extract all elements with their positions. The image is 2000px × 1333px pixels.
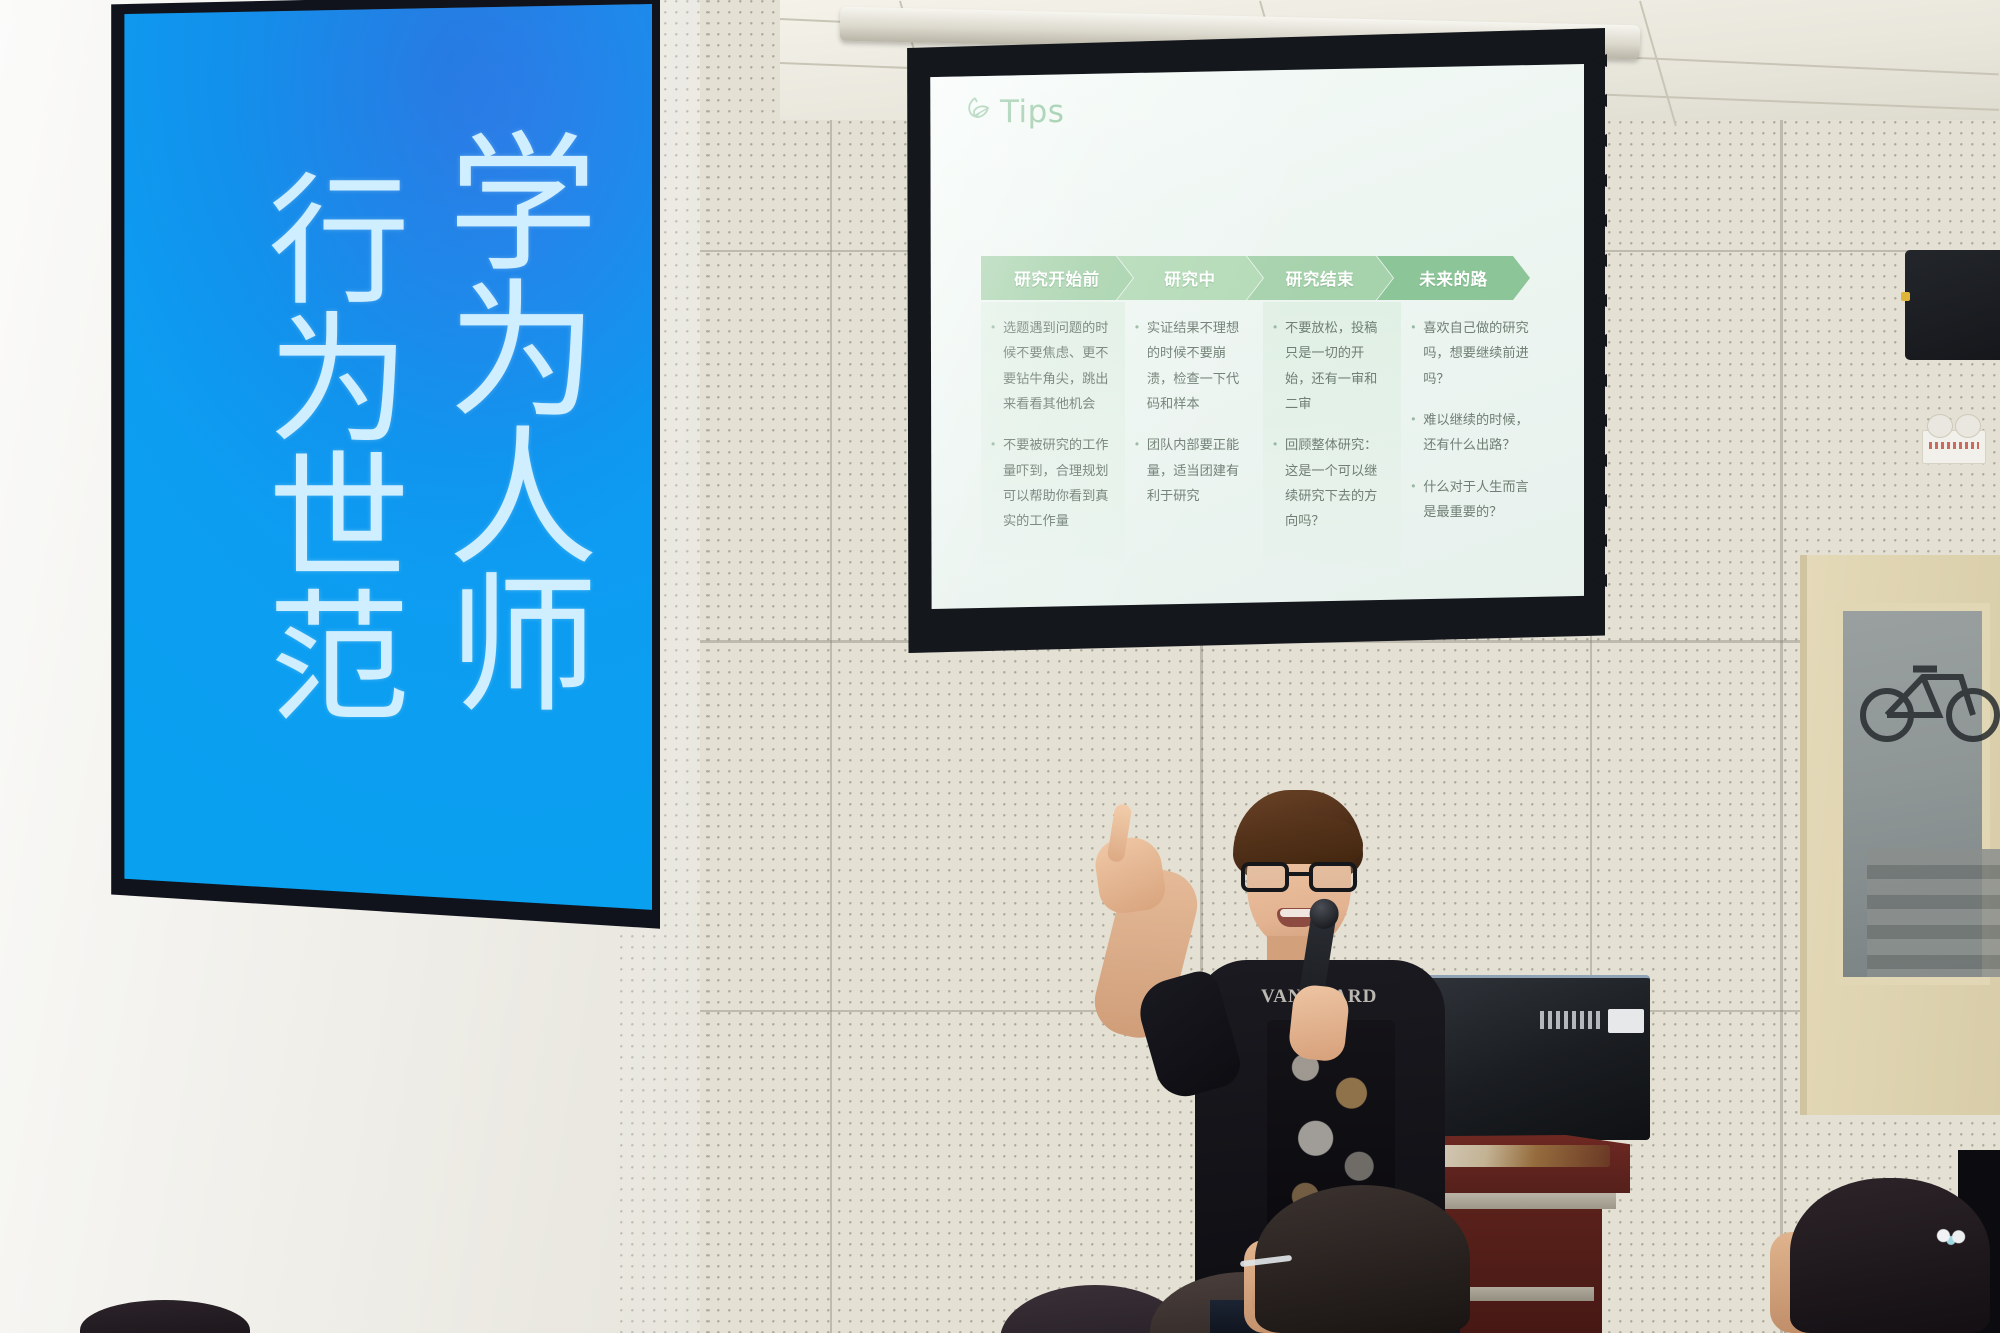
lens-right — [1309, 862, 1357, 892]
bullet-item: • 不要被研究的工作量吓到，合理规划可以帮助你看到真实的工作量 — [991, 433, 1113, 534]
bullet-item: • 什么对于人生而言是最重要的？ — [1411, 475, 1534, 526]
stage-chevron-2: 研究结束 — [1247, 256, 1393, 300]
bullet-text: 实证结果不理想的时候不要崩溃，检查一下代码和样本 — [1147, 316, 1251, 417]
screen-tension-tabs — [1591, 54, 1607, 614]
calligraphy-char: 为 — [448, 281, 598, 428]
bullet-item: • 选题遇到问题的时候不要焦虑、更不要钻牛角尖，跳出来看看其他机会 — [991, 316, 1113, 417]
stage-label: 研究中 — [1164, 266, 1215, 290]
emergency-light — [1922, 430, 1986, 464]
stage-label: 未来的路 — [1419, 266, 1487, 290]
stairs — [1867, 849, 2000, 977]
bullet-dot: • — [1135, 433, 1147, 509]
bullet-dot: • — [1135, 316, 1147, 417]
bicycle-icon — [1853, 641, 2000, 761]
bullet-item: • 喜欢自己做的研究吗，想要继续前进吗？ — [1411, 316, 1534, 392]
stage-chevron-0: 研究开始前 — [981, 256, 1133, 300]
hair-clip — [1932, 1226, 1970, 1250]
calligraphy-char: 世 — [268, 452, 410, 591]
calligraphy-char: 范 — [268, 591, 410, 730]
bullet-item: • 回顾整体研究：这是一个可以继续研究下去的方向吗？ — [1273, 433, 1389, 534]
bullet-item: • 难以继续的时候，还有什么出路？ — [1411, 408, 1534, 459]
bullet-item: • 实证结果不理想的时候不要崩溃，检查一下代码和样本 — [1135, 316, 1251, 417]
bullet-dot: • — [1411, 408, 1423, 459]
stage-chevron-3: 未来的路 — [1377, 256, 1530, 300]
bullet-dot: • — [991, 316, 1003, 417]
calligraphy-char: 学 — [448, 134, 598, 281]
stage-chevron-row: 研究开始前 研究中 研究结束 未来的路 — [981, 256, 1546, 300]
bullet-item: • 不要放松，投稿只是一切的开始，还有一审和二审 — [1273, 316, 1389, 417]
monitor-label-sticker — [1608, 1009, 1644, 1033]
wall-speaker — [1905, 250, 2000, 360]
door-frame — [1800, 555, 2000, 1115]
stage-column-0: • 选题遇到问题的时候不要焦虑、更不要钻牛角尖，跳出来看看其他机会 • 不要被研… — [981, 302, 1125, 571]
bullet-text: 什么对于人生而言是最重要的？ — [1423, 475, 1534, 526]
bullet-dot: • — [1411, 316, 1423, 392]
calligraphy-char: 师 — [448, 575, 598, 722]
slide-title: Tips — [1000, 94, 1064, 130]
calligraphy-char: 行 — [268, 174, 410, 313]
leaf-icon — [963, 95, 993, 129]
bullet-dot: • — [1273, 316, 1285, 417]
bullet-dot: • — [1273, 433, 1285, 534]
calligraphy-char: 为 — [268, 313, 410, 452]
stage-label: 研究开始前 — [1014, 266, 1100, 290]
slide-content: Tips 研究开始前 研究中 研究结束 未来的路 — [929, 64, 1584, 609]
stage-chevron-1: 研究中 — [1117, 256, 1263, 300]
projection-screen: Tips 研究开始前 研究中 研究结束 未来的路 — [905, 28, 1605, 653]
monitor-barcode-sticker — [1540, 1011, 1600, 1029]
stage-columns: • 选题遇到问题的时候不要焦虑、更不要钻牛角尖，跳出来看看其他机会 • 不要被研… — [981, 302, 1546, 571]
slide-header: Tips — [963, 94, 1558, 130]
hand-holding-microphone — [1287, 983, 1350, 1062]
projected-slide: Tips 研究开始前 研究中 研究结束 未来的路 — [929, 64, 1584, 609]
glasses-bridge — [1287, 872, 1311, 876]
bullet-dot: • — [991, 433, 1003, 534]
calligraphy-column-left: 行 为 世 范 — [268, 174, 410, 731]
raised-hand — [1092, 834, 1168, 916]
lens-left — [1241, 862, 1289, 892]
bullet-text: 选题遇到问题的时候不要焦虑、更不要钻牛角尖，跳出来看看其他机会 — [1003, 316, 1113, 417]
bullet-text: 不要被研究的工作量吓到，合理规划可以帮助你看到真实的工作量 — [1003, 433, 1113, 534]
calligraphy-column-right: 学 为 人 师 — [448, 134, 598, 722]
eyeglasses — [1241, 862, 1357, 892]
stage-label: 研究结束 — [1286, 266, 1354, 290]
stage-column-2: • 不要放松，投稿只是一切的开始，还有一审和二审 • 回顾整体研究：这是一个可以… — [1263, 302, 1401, 571]
stage-column-1: • 实证结果不理想的时候不要崩溃，检查一下代码和样本 • 团队内部要正能量，适当… — [1125, 302, 1263, 571]
door-glass-panel — [1835, 603, 1990, 985]
led-panel-screen: 学 为 人 师 行 为 世 范 — [118, 4, 652, 919]
hair-fringe — [1235, 816, 1363, 864]
audience-head — [1790, 1178, 1990, 1333]
bullet-text: 团队内部要正能量，适当团建有利于研究 — [1147, 433, 1251, 509]
bullet-text: 喜欢自己做的研究吗，想要继续前进吗？ — [1423, 316, 1534, 392]
led-display-panel: 学 为 人 师 行 为 世 范 — [100, 0, 660, 942]
calligraphy-char: 人 — [448, 428, 598, 575]
bullet-text: 难以继续的时候，还有什么出路？ — [1423, 408, 1534, 459]
bullet-text: 不要放松，投稿只是一切的开始，还有一审和二审 — [1285, 316, 1389, 417]
bullet-item: • 团队内部要正能量，适当团建有利于研究 — [1135, 433, 1251, 509]
bullet-dot: • — [1411, 475, 1423, 526]
stage-column-3: • 喜欢自己做的研究吗，想要继续前进吗？ • 难以继续的时候，还有什么出路？ •… — [1401, 302, 1546, 571]
bullet-text: 回顾整体研究：这是一个可以继续研究下去的方向吗？ — [1285, 433, 1389, 534]
lecture-hall-photo: 学 为 人 师 行 为 世 范 — [0, 0, 2000, 1333]
